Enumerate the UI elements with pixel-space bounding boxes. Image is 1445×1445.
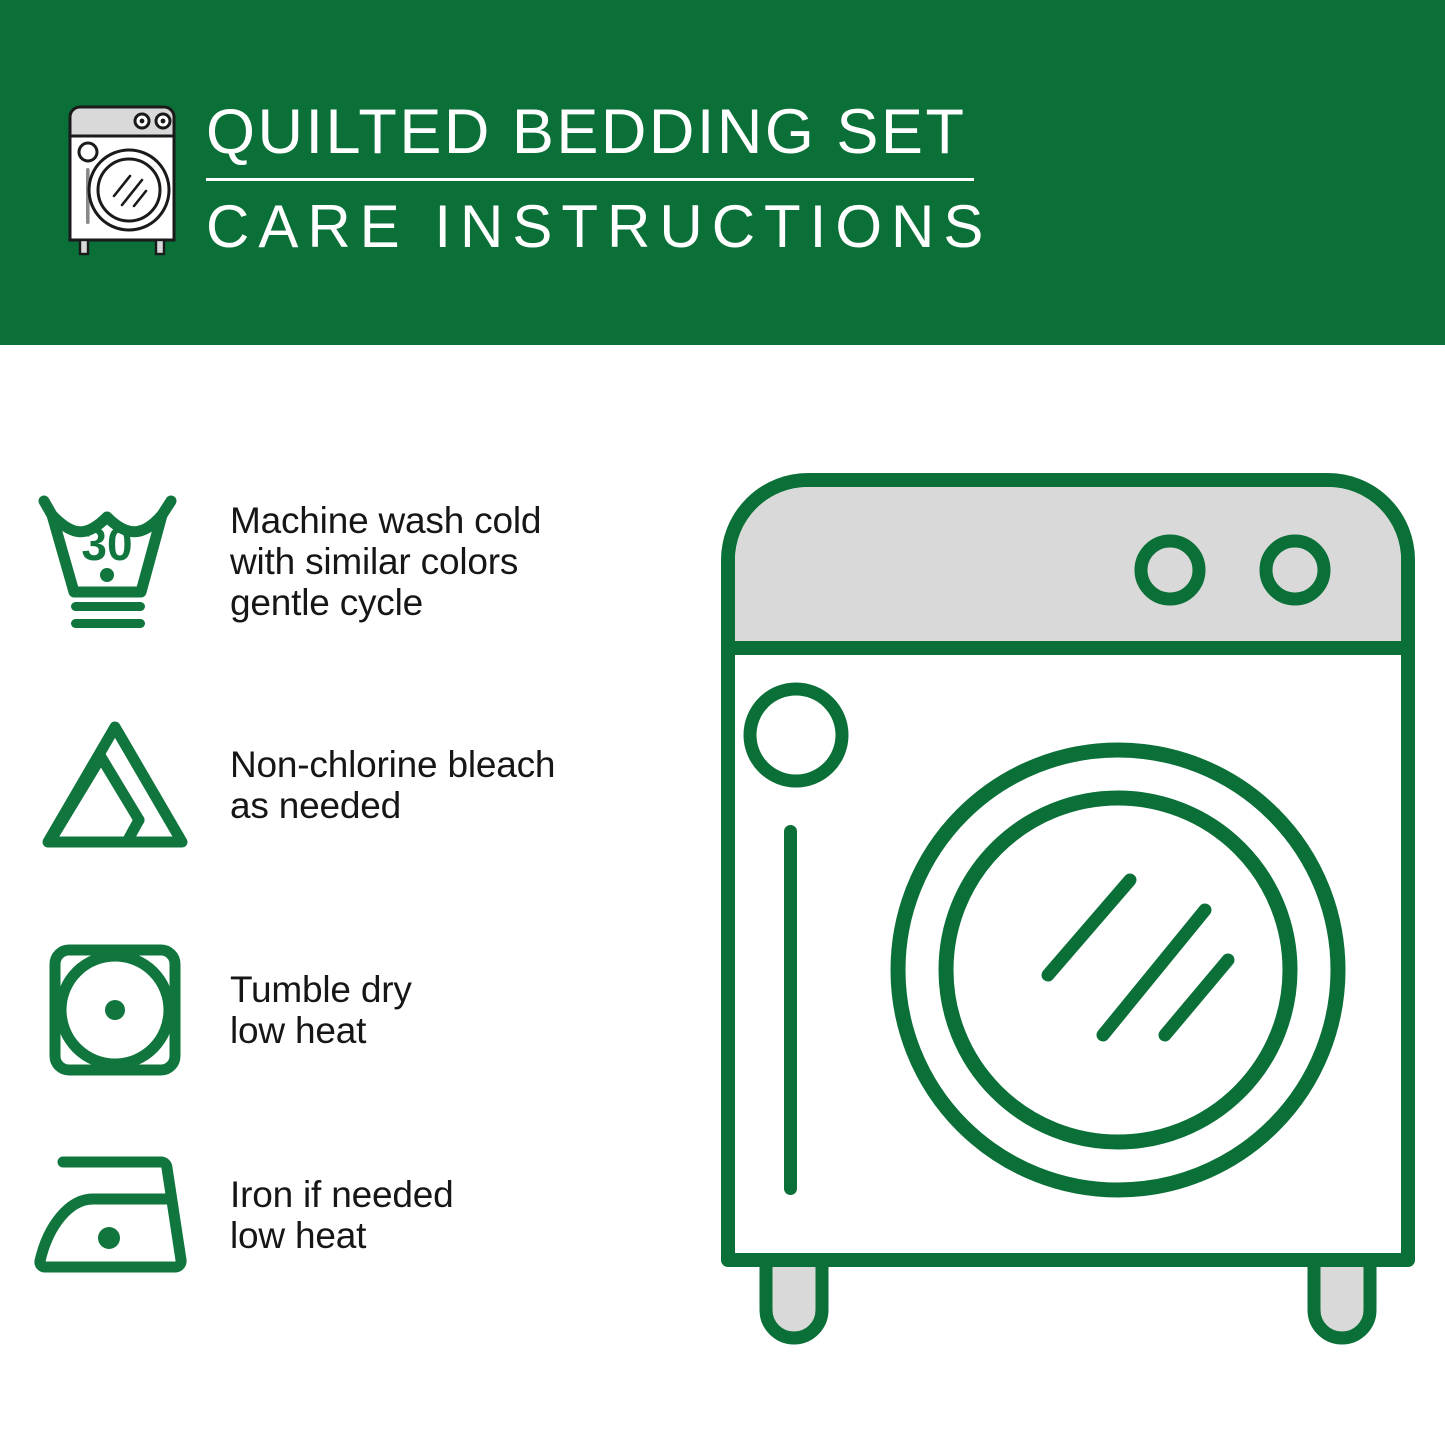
care-label: Non-chlorine bleach as needed [230,744,555,826]
care-row: Non-chlorine bleach as needed [0,715,700,855]
care-instruction-list: 30 Machine wash cold with similar colors… [0,345,700,1445]
care-row: Tumble dry low heat [0,940,700,1080]
care-label: Machine wash cold with similar colors ge… [230,500,541,623]
care-row: 30 Machine wash cold with similar colors… [0,485,700,637]
iron-low-heat-icon [0,1150,230,1280]
header-text-block: QUILTED BEDDING SET CARE INSTRUCTIONS [206,95,986,263]
side-bar [784,825,797,1195]
care-instructions-infographic: QUILTED BEDDING SET CARE INSTRUCTIONS 30 [0,0,1445,1445]
care-row: Iron if needed low heat [0,1150,700,1280]
care-label: Tumble dry low heat [230,969,412,1051]
control-panel [735,487,1401,648]
page-title: QUILTED BEDDING SET [206,95,986,169]
front-load-washing-machine-illustration [718,470,1418,1370]
washing-machine-logo-icon [66,104,186,256]
page-subtitle: CARE INSTRUCTIONS [206,191,986,263]
wash-temperature-value: 30 [81,518,132,570]
care-label: Iron if needed low heat [230,1174,453,1256]
header-banner: QUILTED BEDDING SET CARE INSTRUCTIONS [0,0,1445,345]
title-divider [206,178,974,181]
non-chlorine-bleach-triangle-icon [0,715,230,855]
tumble-dry-low-icon [0,940,230,1080]
wash-tub-30-gentle-icon: 30 [0,485,230,637]
